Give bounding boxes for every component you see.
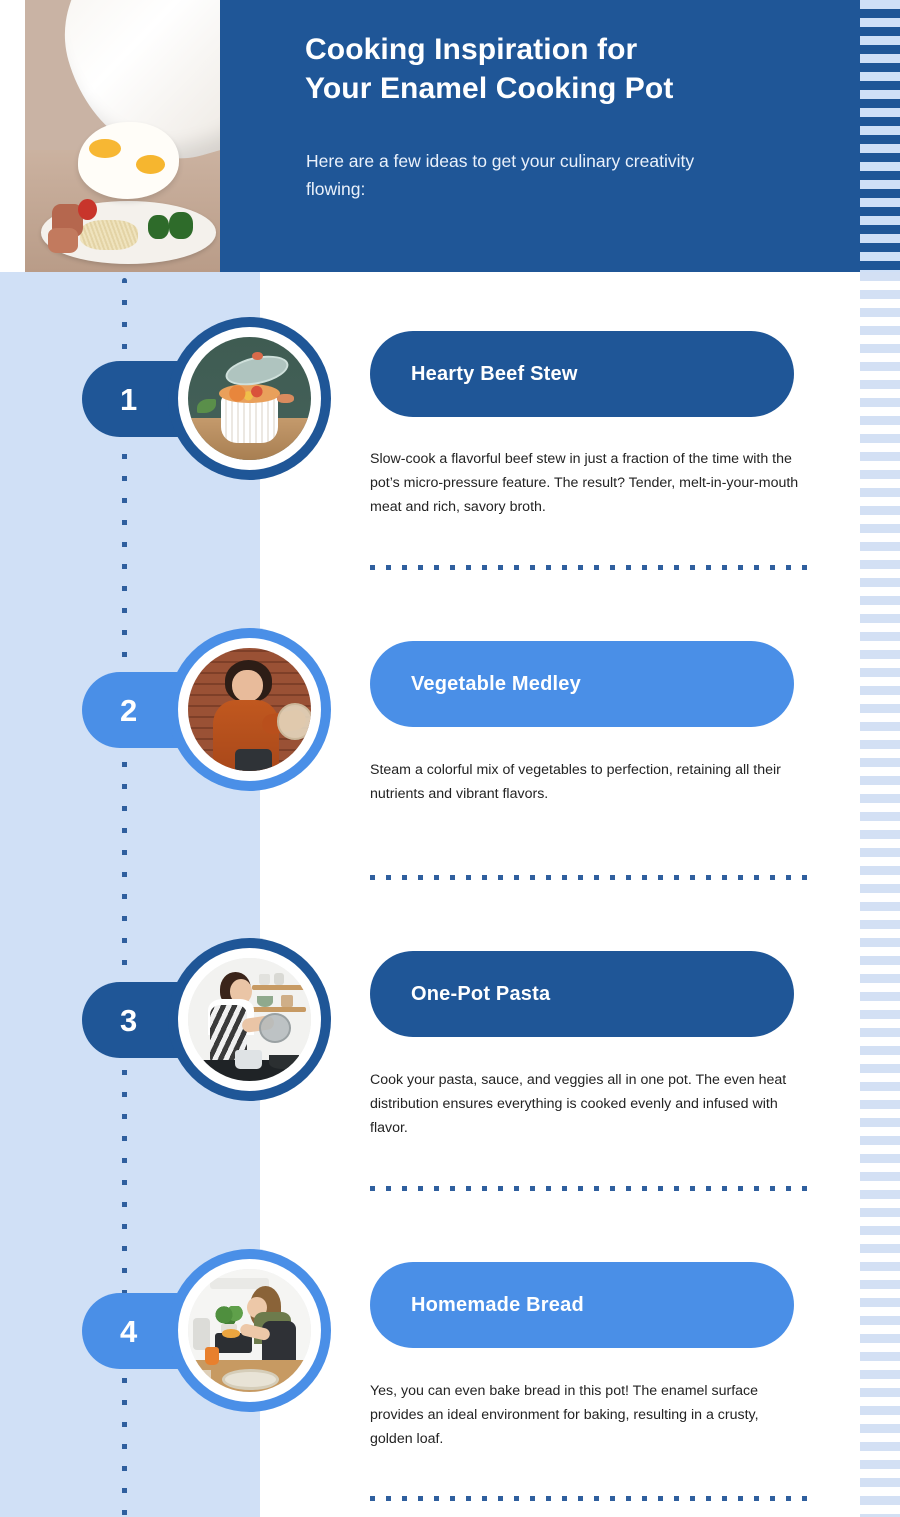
item-title-4: Homemade Bread bbox=[411, 1294, 584, 1317]
item-title-1: Hearty Beef Stew bbox=[411, 363, 578, 386]
item-photo-circle-2 bbox=[168, 628, 331, 791]
item-photo-2 bbox=[188, 648, 311, 771]
item-photo-circle-4 bbox=[168, 1249, 331, 1412]
item-title-pill-4[interactable]: Homemade Bread bbox=[370, 1262, 794, 1348]
page-title: Cooking Inspiration for Your Enamel Cook… bbox=[305, 30, 805, 108]
item-description-3: Cook your pasta, sauce, and veggies all … bbox=[370, 1069, 802, 1141]
number-badge-label: 1 bbox=[120, 384, 137, 415]
right-stripe-pattern-header bbox=[860, 0, 900, 272]
item-description-2: Steam a colorful mix of vegetables to pe… bbox=[370, 759, 802, 807]
number-badge-label: 4 bbox=[120, 1316, 137, 1347]
number-badge-label: 3 bbox=[120, 1005, 137, 1036]
item-title-pill-2[interactable]: Vegetable Medley bbox=[370, 641, 794, 727]
item-photo-circle-3 bbox=[168, 938, 331, 1101]
item-photo-circle-1 bbox=[168, 317, 331, 480]
number-badge-label: 2 bbox=[120, 695, 137, 726]
page-title-line-1: Cooking Inspiration for bbox=[305, 30, 805, 69]
item-separator-2 bbox=[370, 875, 810, 880]
item-title-3: One-Pot Pasta bbox=[411, 983, 550, 1006]
item-description-1: Slow-cook a flavorful beef stew in just … bbox=[370, 448, 802, 520]
item-title-pill-3[interactable]: One-Pot Pasta bbox=[370, 951, 794, 1037]
header-photo bbox=[25, 0, 220, 272]
right-stripe-pattern bbox=[860, 272, 900, 1517]
item-title-2: Vegetable Medley bbox=[411, 673, 581, 696]
item-separator-4 bbox=[370, 1496, 810, 1501]
page-title-line-2: Your Enamel Cooking Pot bbox=[305, 69, 805, 108]
item-photo-4 bbox=[188, 1269, 311, 1392]
infographic-page: Cooking Inspiration for Your Enamel Cook… bbox=[0, 0, 900, 1517]
item-photo-3 bbox=[188, 958, 311, 1081]
item-separator-3 bbox=[370, 1186, 810, 1191]
item-photo-1 bbox=[188, 337, 311, 460]
item-description-4: Yes, you can even bake bread in this pot… bbox=[370, 1380, 802, 1452]
item-separator-1 bbox=[370, 565, 810, 570]
item-title-pill-1[interactable]: Hearty Beef Stew bbox=[370, 331, 794, 417]
page-subtitle: Here are a few ideas to get your culinar… bbox=[306, 148, 736, 203]
